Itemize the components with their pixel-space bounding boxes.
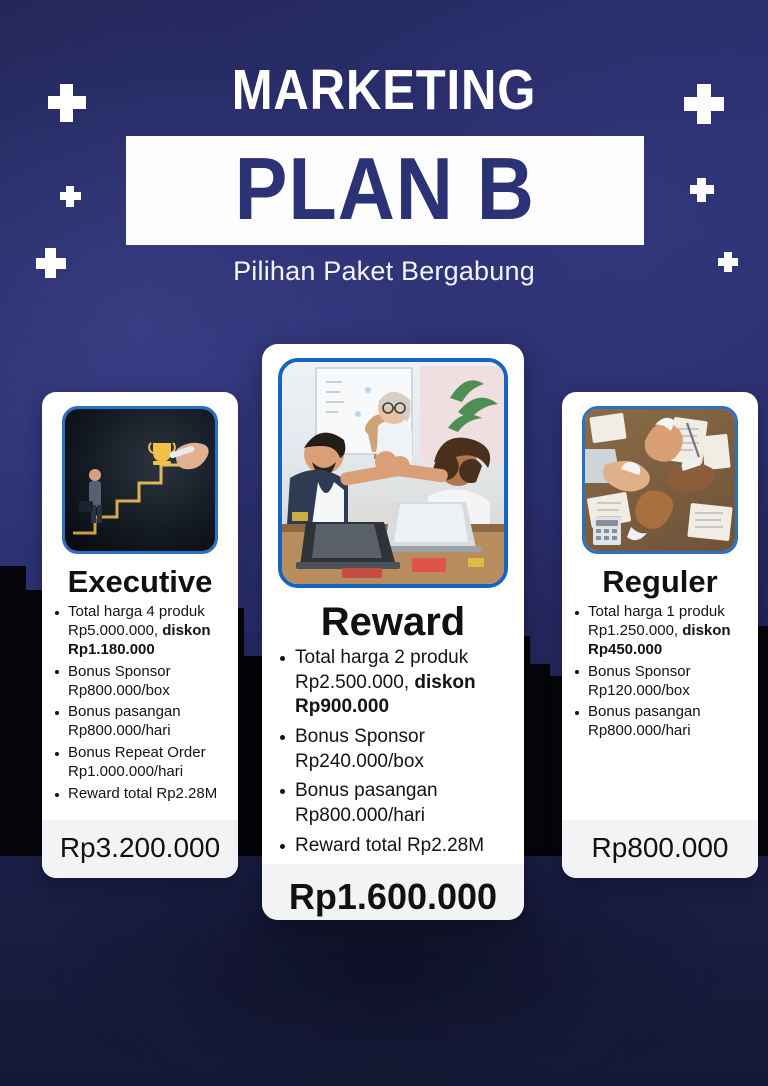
list-item: Bonus pasangan Rp800.000/hari	[54, 703, 230, 741]
feature-list: Total harga 1 produk Rp1.250.000, diskon…	[562, 597, 758, 820]
marketing-plan-poster: MARKETING PLAN B Pilihan Paket Bergabung	[0, 0, 768, 1086]
reward-team-celebration-image	[278, 358, 508, 588]
plus-decoration-icon	[60, 192, 81, 200]
list-item: Bonus pasangan Rp800.000/hari	[574, 703, 750, 741]
list-item: Reward total Rp2.28M	[54, 785, 230, 804]
executive-stairs-trophy-image	[62, 406, 218, 554]
list-item: Bonus pasangan Rp800.000/hari	[278, 779, 516, 828]
poster-subtitle: Pilihan Paket Bergabung	[0, 256, 768, 287]
card-price: Rp800.000	[562, 820, 758, 878]
plus-decoration-icon	[66, 186, 74, 207]
list-item: Bonus Repeat Order Rp1.000.000/hari	[54, 744, 230, 782]
plus-decoration-icon	[697, 178, 706, 202]
list-item: Total harga 2 produk Rp2.500.000, diskon…	[278, 646, 516, 720]
list-item: Total harga 1 produk Rp1.250.000, diskon…	[574, 603, 750, 660]
feature-list: Total harga 2 produk Rp2.500.000, diskon…	[262, 642, 524, 864]
card-title: Reward	[262, 602, 524, 642]
package-card-reguler[interactable]: Reguler Total harga 1 produk Rp1.250.000…	[562, 392, 758, 878]
card-price: Rp3.200.000	[42, 820, 238, 878]
reguler-fist-bump-image	[582, 406, 738, 554]
title-marketing: MARKETING	[54, 0, 714, 119]
poster-header: MARKETING PLAN B Pilihan Paket Bergabung	[0, 0, 768, 119]
plus-decoration-icon	[690, 185, 714, 194]
list-item: Bonus Sponsor Rp800.000/box	[54, 663, 230, 701]
list-item: Bonus Sponsor Rp120.000/box	[574, 663, 750, 701]
list-item: Bonus Sponsor Rp240.000/box	[278, 725, 516, 774]
title-box: PLAN B	[126, 136, 644, 245]
title-plan-b: PLAN B	[235, 145, 535, 233]
feature-list: Total harga 4 produk Rp5.000.000, diskon…	[42, 597, 238, 820]
card-price: Rp1.600.000	[262, 864, 524, 921]
card-title: Executive	[42, 566, 238, 597]
list-item: Total harga 4 produk Rp5.000.000, diskon…	[54, 603, 230, 660]
card-title: Reguler	[562, 566, 758, 597]
package-card-executive[interactable]: Executive Total harga 4 produk Rp5.000.0…	[42, 392, 238, 878]
list-item: Reward total Rp2.28M	[278, 834, 516, 859]
package-card-reward[interactable]: Reward Total harga 2 produk Rp2.500.000,…	[262, 344, 524, 920]
